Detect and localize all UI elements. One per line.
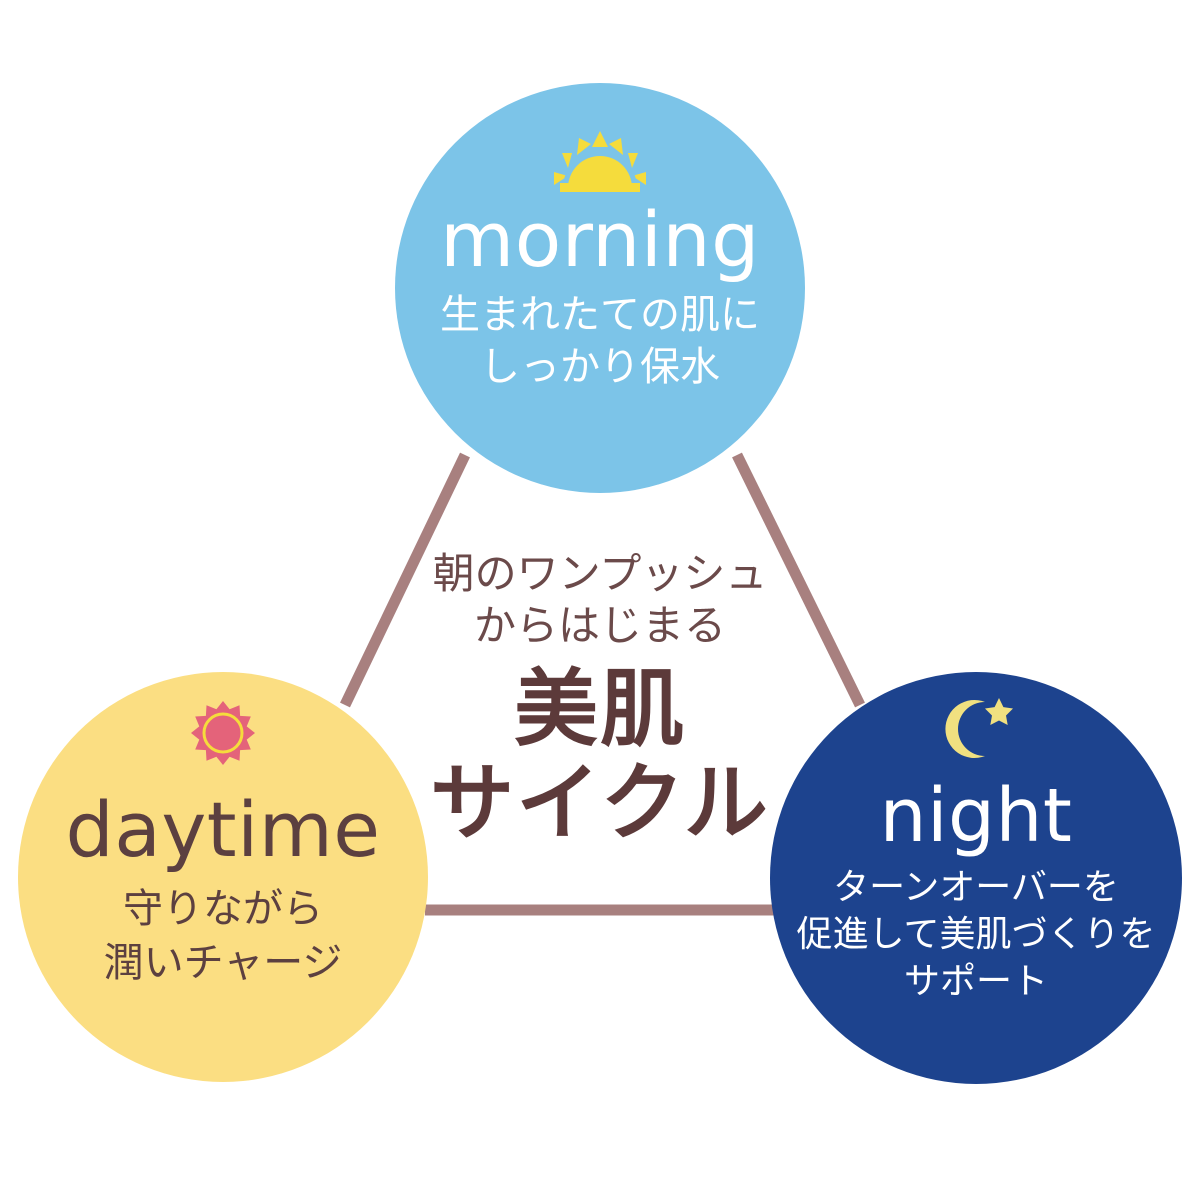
node-desc-line: 促進して美肌づくりを (797, 911, 1156, 958)
node-night[interactable]: night ターンオーバーを 促進して美肌づくりを サポート (770, 672, 1182, 1084)
node-daytime[interactable]: daytime 守りながら 潤いチャージ (18, 672, 428, 1082)
node-desc-line: ターンオーバーを (797, 864, 1156, 911)
node-desc-line: 潤いチャージ (104, 936, 343, 990)
skincare-cycle-diagram: morning 生まれたての肌に しっかり保水 daytime 守りながら 潤い… (0, 0, 1200, 1200)
node-desc-morning: 生まれたての肌に しっかり保水 (440, 289, 760, 393)
center-copy: 朝のワンプッシュ からはじまる 美肌 サイクル (370, 548, 830, 850)
node-title-night: night (880, 770, 1073, 862)
sun-icon (190, 700, 256, 766)
node-morning[interactable]: morning 生まれたての肌に しっかり保水 (395, 83, 805, 493)
crescent-moon-star-icon (939, 694, 1013, 760)
center-lead-text: 朝のワンプッシュ からはじまる (370, 548, 830, 652)
center-lead-line: 朝のワンプッシュ (370, 548, 830, 600)
node-title-daytime: daytime (66, 782, 381, 878)
node-title-morning: morning (440, 195, 760, 285)
center-headline: 美肌 サイクル (370, 662, 830, 850)
node-desc-line: 守りながら (104, 882, 343, 936)
center-headline-line: 美肌 (370, 662, 830, 756)
sunrise-icon (552, 131, 648, 193)
node-desc-line: しっかり保水 (440, 341, 760, 393)
center-headline-line: サイクル (370, 756, 830, 850)
node-desc-line: サポート (797, 958, 1156, 1005)
node-desc-night: ターンオーバーを 促進して美肌づくりを サポート (797, 864, 1156, 1005)
center-lead-line: からはじまる (370, 600, 830, 652)
node-desc-daytime: 守りながら 潤いチャージ (104, 882, 343, 990)
node-desc-line: 生まれたての肌に (440, 289, 760, 341)
